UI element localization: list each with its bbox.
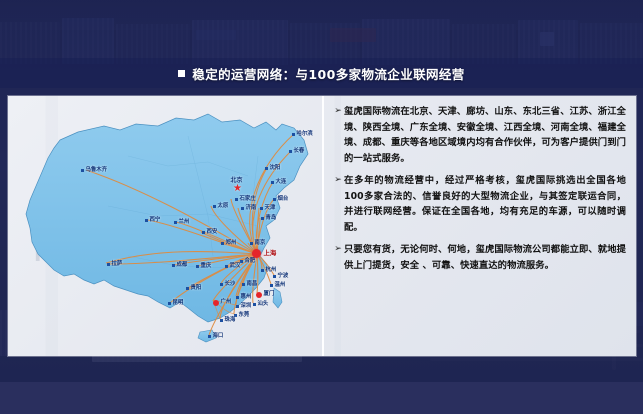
map-city-label: 惠州: [241, 295, 252, 300]
page-title: 稳定的运营网络：与100多家物流企业联网经营: [192, 64, 464, 83]
map-city-长沙: 长沙: [220, 282, 235, 287]
capital-star-icon: ★: [233, 184, 242, 194]
map-city-label: 重庆: [201, 264, 212, 269]
content-panel: HM ✳: [8, 96, 636, 356]
map-city-天津: 天津: [260, 206, 275, 211]
map-city-宁波: 宁波: [273, 274, 288, 279]
map-city-惠州: 惠州: [236, 295, 251, 300]
city-dot-icon: [292, 133, 295, 136]
map-city-温州: 温州: [270, 283, 285, 288]
map-city-南昌: 南昌: [242, 282, 257, 287]
map-city-label: 兰州: [179, 220, 190, 225]
map-city-大连: 大连: [271, 180, 286, 185]
map-city-西宁: 西宁: [145, 218, 160, 223]
map-city-兰州: 兰州: [174, 220, 189, 225]
map-city-成都: 成都: [172, 263, 187, 268]
map-city-珠海: 珠海: [220, 318, 235, 323]
map-city-label: 拉萨: [112, 262, 123, 267]
city-dot-icon: [273, 198, 276, 201]
map-city-南京: 南京: [250, 241, 265, 246]
map-city-汕头: 汕头: [253, 302, 268, 307]
map-city-label: 成都: [177, 263, 188, 268]
map-city-label: 宁波: [278, 274, 289, 279]
arrow-bullet-icon: ➢: [332, 242, 344, 258]
map-city-太原: 太原: [213, 204, 228, 209]
map-city-乌鲁木齐: 乌鲁木齐: [81, 168, 107, 173]
map-city-label: 青岛: [266, 216, 277, 221]
map-city-沈阳: 沈阳: [265, 166, 280, 171]
city-dot-icon: [241, 207, 244, 210]
map-city-label: 南昌: [247, 282, 258, 287]
city-dot-icon: [172, 264, 175, 267]
map-city-label: 太原: [218, 204, 229, 209]
arrow-bullet-icon: ➢: [332, 104, 344, 120]
map-city-青岛: 青岛: [261, 216, 276, 221]
map-city-武汉: 武汉: [225, 264, 240, 269]
panel-divider: [322, 96, 324, 356]
map-city-label: 深圳: [241, 304, 252, 309]
map-city-label: 哈尔滨: [297, 132, 313, 137]
map-city-深圳: 深圳: [236, 304, 251, 309]
city-dot-icon: [220, 283, 223, 286]
paragraph-text: 只要您有货，无论何时、何地，玺虎国际物流公司都能立即、就地提供上门提货，安全 、…: [344, 242, 626, 273]
map-city-label: 珠海: [225, 318, 236, 323]
map-city-广州: 广州: [213, 300, 231, 306]
map-city-label: 大连: [276, 180, 287, 185]
city-dot-icon: [225, 265, 228, 268]
map-city-杭州: 杭州: [261, 268, 276, 273]
city-dot-icon: [270, 284, 273, 287]
city-dot-icon: [168, 302, 171, 305]
paragraph-text: 在多年的物流经营中，经过严格考核，玺虎国际挑选出全国各地100多家合法的、信誉良…: [344, 173, 626, 235]
city-dot-icon: [261, 217, 264, 220]
city-dot-icon: [250, 242, 253, 245]
map-city-重庆: 重庆: [196, 264, 211, 269]
map-city-label: 烟台: [278, 197, 289, 202]
map-city-烟台: 烟台: [273, 197, 288, 202]
map-city-贵阳: 贵阳: [186, 286, 201, 291]
city-dot-icon: [213, 300, 219, 306]
city-dot-icon: [271, 181, 274, 184]
city-dot-icon: [145, 219, 148, 222]
paragraph-2: ➢ 在多年的物流经营中，经过严格考核，玺虎国际挑选出全国各地100多家合法的、信…: [332, 173, 626, 235]
city-dot-icon: [240, 260, 243, 263]
city-dot-icon: [213, 205, 216, 208]
city-dot-icon: [221, 242, 224, 245]
city-dot-icon: [242, 283, 245, 286]
map-city-label: 合肥: [245, 259, 256, 264]
map-city-beijing: 北京: [229, 178, 243, 184]
map-city-label: 长沙: [225, 282, 236, 287]
china-route-map: 乌鲁木齐哈尔滨长春沈阳大连石家庄烟台太原济南天津青岛西宁兰州西安郑州南京合肥拉萨…: [8, 96, 322, 356]
map-city-拉萨: 拉萨: [107, 262, 122, 267]
map-city-合肥: 合肥: [240, 259, 255, 264]
square-bullet-icon: [178, 70, 185, 77]
slide-title-band: 稳定的运营网络：与100多家物流企业联网经营: [0, 58, 643, 88]
map-city-郑州: 郑州: [221, 241, 236, 246]
city-dot-icon: [220, 319, 223, 322]
city-dot-icon: [196, 265, 199, 268]
arrow-bullet-icon: ➢: [332, 173, 344, 189]
city-dot-icon: [174, 221, 177, 224]
city-dot-icon: [273, 275, 276, 278]
map-city-label: 汕头: [258, 302, 269, 307]
slide-root: 稳定的运营网络：与100多家物流企业联网经营 HM ✳: [0, 0, 643, 414]
map-city-昆明: 昆明: [168, 301, 183, 306]
map-city-label: 上海: [264, 250, 277, 256]
map-city-厦门: 厦门: [256, 292, 274, 298]
hub-dot-icon: [252, 249, 261, 258]
map-city-label: 海口: [213, 334, 224, 339]
map-city-label: 郑州: [226, 241, 237, 246]
city-dot-icon: [107, 263, 110, 266]
description-text-column: ➢ 玺虎国际物流在北京、天津、廊坊、山东、东北三省、江苏、浙江全境、陕西全境、广…: [326, 96, 636, 356]
city-dot-icon: [289, 150, 292, 153]
city-dot-icon: [260, 207, 263, 210]
map-city-哈尔滨: 哈尔滨: [292, 132, 313, 137]
map-city-shanghai-hub[interactable]: 上海: [252, 249, 276, 258]
paragraph-1: ➢ 玺虎国际物流在北京、天津、廊坊、山东、东北三省、江苏、浙江全境、陕西全境、广…: [332, 104, 626, 166]
map-city-label: 西安: [207, 230, 218, 235]
map-city-label: 昆明: [173, 301, 184, 306]
bottom-band: [0, 382, 643, 414]
city-dot-icon: [265, 167, 268, 170]
map-city-label: 贵阳: [191, 286, 202, 291]
map-city-label: 广州: [221, 300, 232, 305]
paragraph-3: ➢ 只要您有货，无论何时、何地，玺虎国际物流公司都能立即、就地提供上门提货，安全…: [332, 242, 626, 273]
map-city-东莞: 东莞: [234, 313, 249, 318]
map-svg: [8, 96, 322, 356]
map-city-label: 东莞: [239, 313, 250, 318]
map-city-label: 天津: [265, 206, 276, 211]
city-dot-icon: [208, 335, 211, 338]
city-dot-icon: [81, 169, 84, 172]
city-dot-icon: [202, 231, 205, 234]
map-city-label: 武汉: [230, 264, 241, 269]
map-city-label: 乌鲁木齐: [86, 168, 108, 173]
paragraph-text: 玺虎国际物流在北京、天津、廊坊、山东、东北三省、江苏、浙江全境、陕西全境、广东全…: [344, 104, 626, 166]
map-city-海口: 海口: [208, 334, 223, 339]
map-city-label: 杭州: [266, 268, 277, 273]
map-city-西安: 西安: [202, 230, 217, 235]
map-city-label: 沈阳: [270, 166, 281, 171]
city-dot-icon: [261, 269, 264, 272]
city-dot-icon: [256, 292, 262, 298]
map-city-label: 长春: [294, 149, 305, 154]
map-city-济南: 济南: [241, 206, 256, 211]
map-city-label: 温州: [275, 283, 286, 288]
map-city-label: 南京: [255, 241, 266, 246]
city-dot-icon: [236, 305, 239, 308]
city-dot-icon: [235, 198, 238, 201]
city-dot-icon: [186, 287, 189, 290]
map-city-label: 济南: [246, 206, 257, 211]
taiwan-island: [273, 288, 282, 308]
map-city-label: 北京: [231, 178, 243, 184]
map-city-长春: 长春: [289, 149, 304, 154]
city-dot-icon: [253, 303, 256, 306]
city-dot-icon: [236, 296, 239, 299]
map-city-label: 西宁: [150, 218, 161, 223]
map-city-label: 石家庄: [240, 197, 256, 202]
map-city-石家庄: 石家庄: [235, 197, 256, 202]
map-city-label: 厦门: [264, 292, 275, 297]
